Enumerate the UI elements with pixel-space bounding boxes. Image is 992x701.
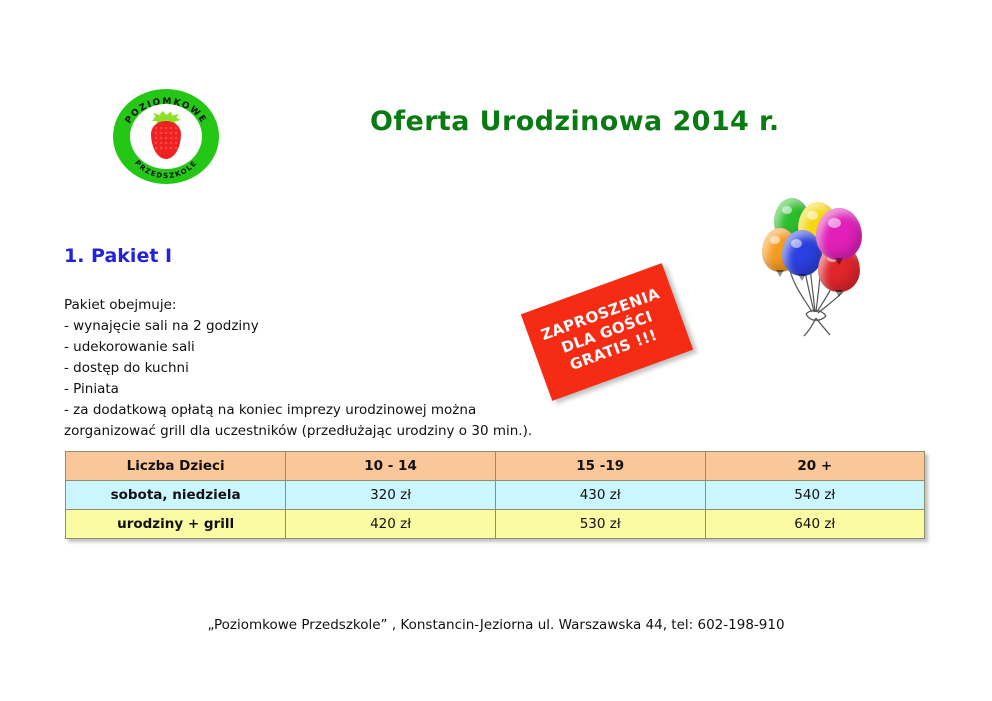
price-grill-20-plus: 640 zł bbox=[705, 510, 924, 539]
package-item-1: - udekorowanie sali bbox=[64, 337, 534, 358]
logo-arc-bottom-label: PRZEDSZKOLE bbox=[133, 159, 199, 180]
table-header-row: Liczba Dzieci 10 - 14 15 -19 20 + bbox=[66, 452, 925, 481]
package-heading: 1. Pakiet I bbox=[64, 245, 172, 267]
package-item-3: - Piniata bbox=[64, 379, 534, 400]
table-row: urodziny + grill 420 zł 530 zł 640 zł bbox=[66, 510, 925, 539]
footer-contact: „Poziomkowe Przedszkole” , Konstancin-Je… bbox=[0, 617, 992, 633]
svg-text:POZIOMKOWE: POZIOMKOWE bbox=[124, 97, 209, 126]
price-weekend-10-14: 320 zł bbox=[286, 481, 496, 510]
package-item-2: - dostęp do kuchni bbox=[64, 358, 534, 379]
balloon-gloss bbox=[828, 218, 841, 228]
invitations-free-stamp: ZAPROSZENIA DLA GOŚCI GRATIS !!! bbox=[521, 263, 693, 401]
table-row: sobota, niedziela 320 zł 430 zł 540 zł bbox=[66, 481, 925, 510]
package-item-0: - wynajęcie sali na 2 godziny bbox=[64, 316, 534, 337]
price-table: Liczba Dzieci 10 - 14 15 -19 20 + sobota… bbox=[65, 451, 925, 539]
package-item-4: - za dodatkową opłatą na koniec imprezy … bbox=[64, 400, 534, 421]
price-grill-10-14: 420 zł bbox=[286, 510, 496, 539]
table-header-cell-1: 10 - 14 bbox=[286, 452, 496, 481]
package-intro: Pakiet obejmuje: bbox=[64, 295, 534, 316]
balloons-illustration bbox=[760, 188, 900, 338]
price-weekend-15-19: 430 zł bbox=[495, 481, 705, 510]
logo-arc-text: POZIOMKOWE PRZEDSZKOLE bbox=[113, 89, 219, 184]
balloon-gloss bbox=[807, 211, 818, 220]
logo-arc-top-label: POZIOMKOWE bbox=[124, 97, 209, 126]
balloon-magenta bbox=[816, 208, 862, 260]
kindergarten-logo: POZIOMKOWE PRZEDSZKOLE bbox=[113, 89, 219, 184]
price-grill-15-19: 530 zł bbox=[495, 510, 705, 539]
balloon-gloss bbox=[782, 206, 792, 214]
offer-page: POZIOMKOWE PRZEDSZKOLE Oferta Urodzinowa… bbox=[0, 0, 992, 701]
table-header-cell-0: Liczba Dzieci bbox=[66, 452, 286, 481]
table-header-cell-3: 20 + bbox=[705, 452, 924, 481]
package-description: Pakiet obejmuje: - wynajęcie sali na 2 g… bbox=[64, 295, 534, 442]
price-weekend-20-plus: 540 zł bbox=[705, 481, 924, 510]
row-label-grill: urodziny + grill bbox=[66, 510, 286, 539]
package-item-4-continuation: zorganizować grill dla uczestników (prze… bbox=[64, 421, 534, 442]
page-title: Oferta Urodzinowa 2014 r. bbox=[370, 106, 790, 137]
row-label-weekend: sobota, niedziela bbox=[66, 481, 286, 510]
svg-text:PRZEDSZKOLE: PRZEDSZKOLE bbox=[133, 159, 199, 180]
balloon-gloss bbox=[791, 239, 802, 248]
table-header-cell-2: 15 -19 bbox=[495, 452, 705, 481]
balloon-gloss bbox=[770, 236, 780, 244]
